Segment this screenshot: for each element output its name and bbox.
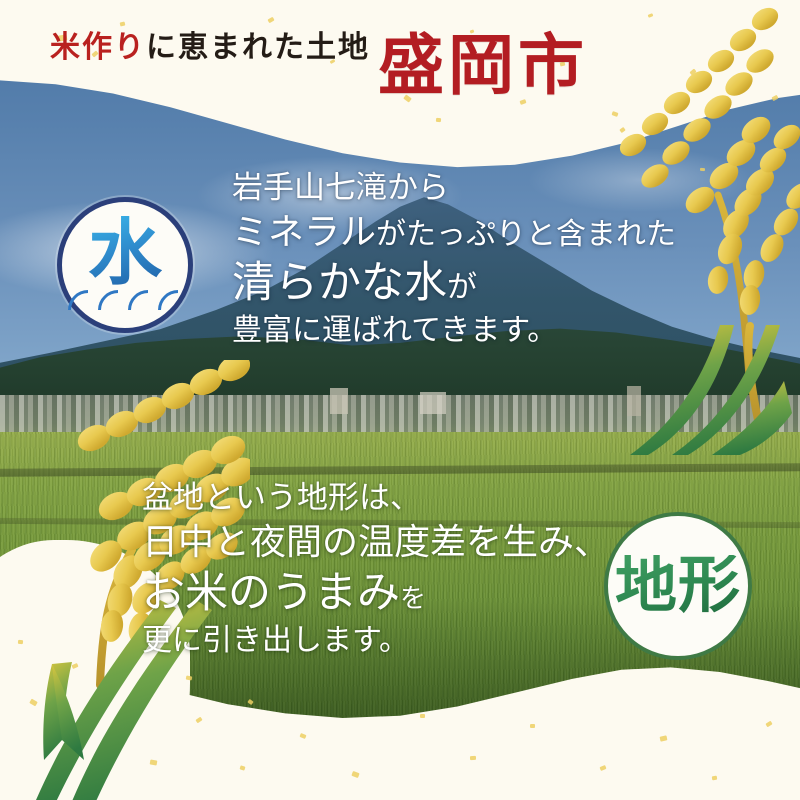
- water-copy-line-2-lead: ミネラル: [232, 212, 376, 252]
- water-copy-line-3-lead: 清らかな水: [232, 260, 447, 307]
- water-copy-line-3: 清らかな水が: [232, 256, 676, 311]
- water-copy-line-2: ミネラルがたっぷりと含まれた: [232, 209, 676, 256]
- terrain-copy-line-3-lead: お米のうまみ: [142, 570, 400, 617]
- header-subtitle: 米作りに恵まれた土地: [50, 22, 370, 66]
- header-subtitle-rest: に恵まれた土地: [146, 31, 370, 64]
- town-building: [330, 388, 348, 414]
- gold-fleck: [530, 724, 535, 728]
- terrain-copy-line-3: お米のうまみを: [142, 566, 610, 621]
- terrain-copy-line-1: 盆地という地形は、: [142, 478, 610, 519]
- header-subtitle-highlight: 米作り: [50, 31, 146, 64]
- badge-terrain: 地形: [604, 512, 752, 660]
- gold-fleck: [470, 756, 476, 760]
- water-copy-block: 岩手山七滝から ミネラルがたっぷりと含まれた 清らかな水が 豊富に運ばれてきます…: [232, 168, 676, 351]
- badge-water-label: 水: [88, 216, 162, 290]
- gold-fleck: [436, 118, 441, 123]
- terrain-copy-line-4: 更に引き出します。: [142, 621, 610, 661]
- water-copy-line-1: 岩手山七滝から: [232, 168, 676, 209]
- terrain-copy-line-3-tail: を: [400, 584, 426, 613]
- page-title: 盛岡市: [378, 12, 588, 108]
- wave-icon: [62, 280, 188, 314]
- poster-root: 米作りに恵まれた土地 盛岡市 水 地形 岩手山七滝から ミネラルがたっぷりと含ま…: [0, 0, 800, 800]
- gold-fleck: [712, 776, 718, 781]
- water-copy-line-4: 豊富に運ばれてきます。: [232, 311, 676, 351]
- terrain-copy-block: 盆地という地形は、 日中と夜間の温度差を生み、 お米のうまみを 更に引き出します…: [142, 478, 610, 661]
- water-copy-line-2-tail: がたっぷりと含まれた: [376, 218, 676, 251]
- badge-terrain-label: 地形: [615, 555, 741, 617]
- terrain-copy-line-2: 日中と夜間の温度差を生み、: [142, 519, 610, 566]
- gold-fleck: [420, 714, 425, 718]
- badge-water: 水: [57, 197, 193, 333]
- town-building: [420, 392, 446, 414]
- water-copy-line-3-tail: が: [447, 271, 477, 304]
